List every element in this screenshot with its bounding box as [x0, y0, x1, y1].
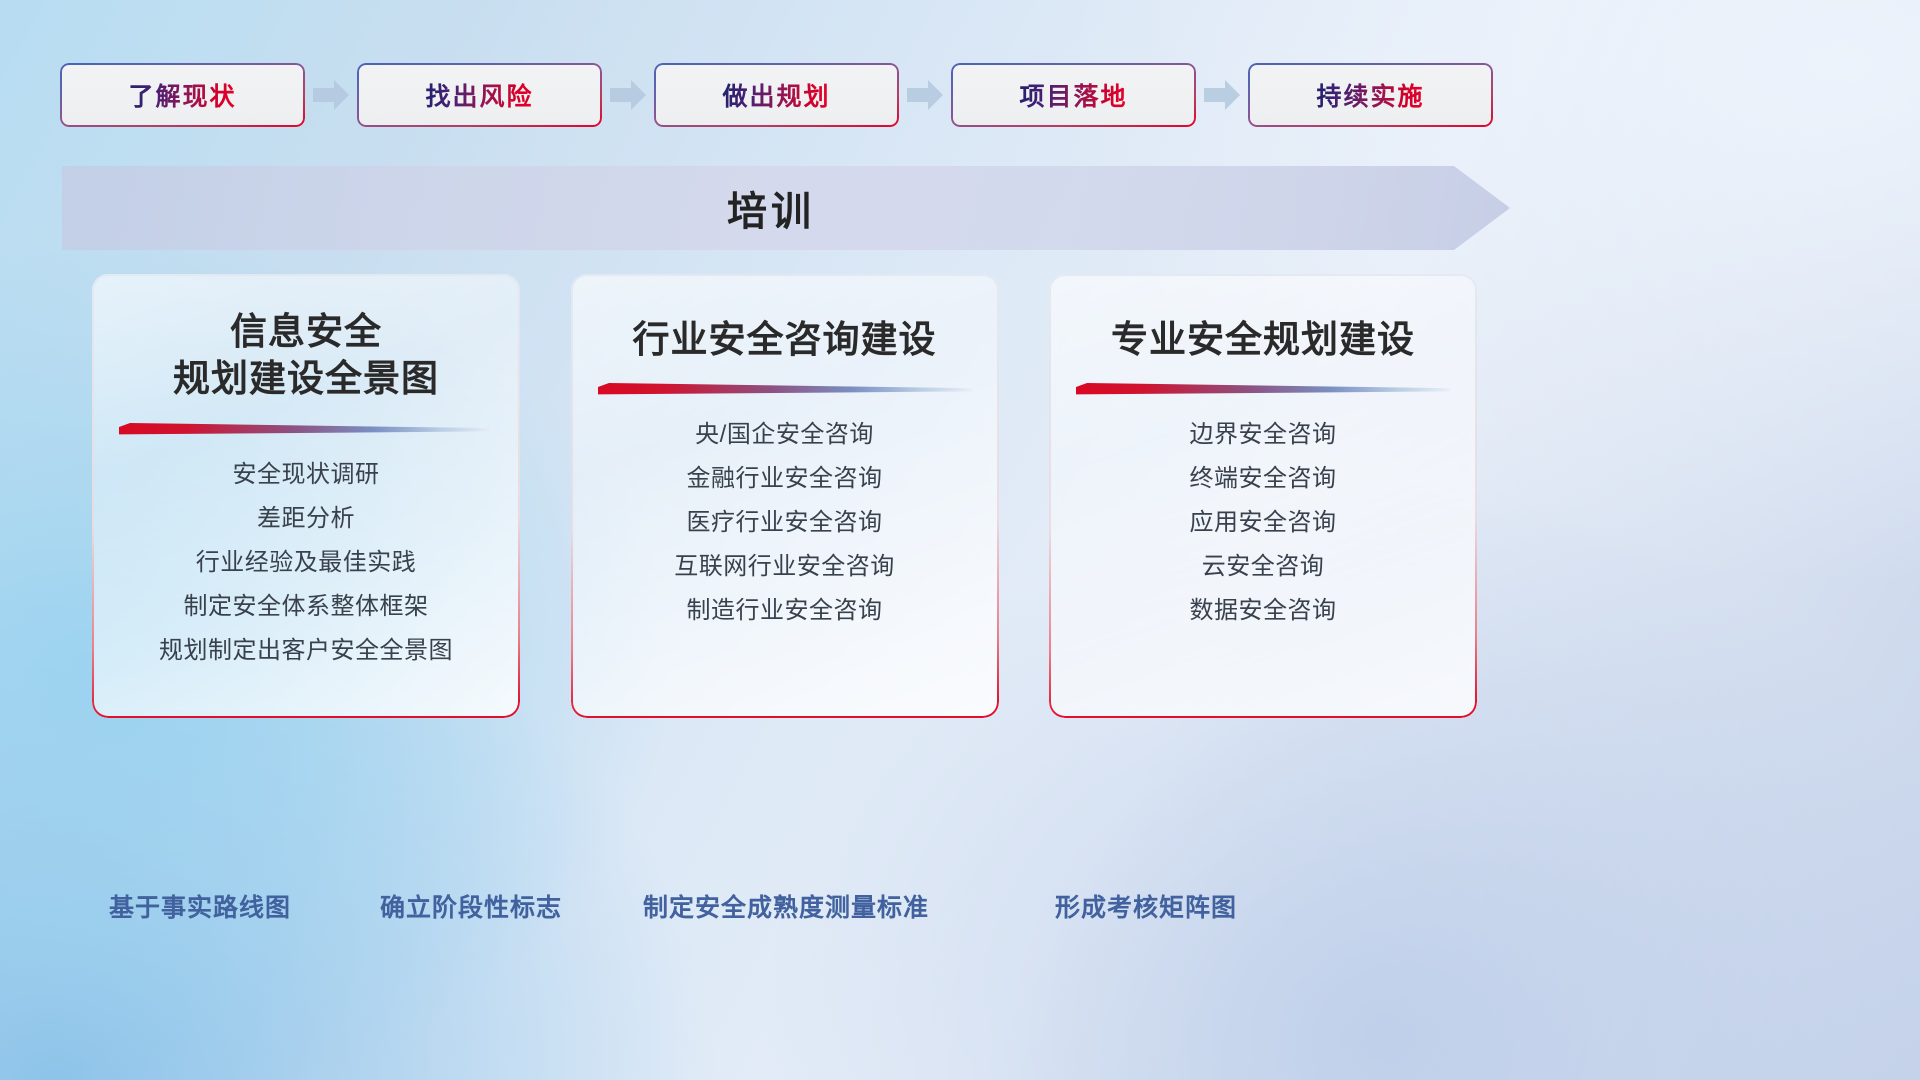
card-list-item[interactable]: 安全现状调研 — [233, 453, 380, 497]
card-item-list: 央/国企安全咨询金融行业安全咨询医疗行业安全咨询互联网行业安全咨询制造行业安全咨… — [571, 413, 999, 633]
slide-stage: 了解现状找出风险做出规划项目落地持续实施 培训 信息安全规划建设全景图安全现状调… — [0, 0, 1920, 1080]
info-card-1[interactable]: 信息安全规划建设全景图安全现状调研差距分析行业经验及最佳实践制定安全体系整体框架… — [92, 274, 520, 718]
chevron-right-icon — [305, 75, 357, 115]
card-list-item[interactable]: 行业经验及最佳实践 — [196, 541, 417, 585]
banner-title: 培训 — [62, 166, 1510, 250]
card-divider — [598, 383, 972, 399]
training-banner: 培训 — [62, 166, 1510, 250]
process-step-5[interactable]: 持续实施 — [1248, 63, 1493, 127]
card-list-item[interactable]: 规划制定出客户安全全景图 — [159, 629, 453, 673]
process-step-label: 持续实施 — [1316, 77, 1424, 113]
card-row: 信息安全规划建设全景图安全现状调研差距分析行业经验及最佳实践制定安全体系整体框架… — [92, 274, 1477, 718]
bottom-label-1: 基于事实路线图 — [109, 888, 291, 924]
card-list-item[interactable]: 央/国企安全咨询 — [695, 413, 874, 457]
chevron-right-icon — [899, 75, 951, 115]
card-title-line: 规划建设全景图 — [173, 355, 439, 402]
chevron-right-icon — [1196, 75, 1248, 115]
card-list-item[interactable]: 医疗行业安全咨询 — [687, 501, 883, 545]
process-step-label: 了解现状 — [128, 77, 236, 113]
process-step-3[interactable]: 做出规划 — [654, 63, 899, 127]
card-divider — [1076, 383, 1450, 399]
card-title-line: 行业安全咨询建设 — [633, 316, 937, 363]
info-card-3[interactable]: 专业安全规划建设边界安全咨询终端安全咨询应用安全咨询云安全咨询数据安全咨询 — [1049, 274, 1477, 718]
card-list-item[interactable]: 边界安全咨询 — [1190, 413, 1337, 457]
card-list-item[interactable]: 数据安全咨询 — [1190, 589, 1337, 633]
bottom-label-3: 制定安全成熟度测量标准 — [643, 888, 929, 924]
bottom-label-4: 形成考核矩阵图 — [1055, 888, 1237, 924]
bottom-label-row: 基于事实路线图确立阶段性标志制定安全成熟度测量标准形成考核矩阵图 — [0, 888, 1570, 948]
card-list-item[interactable]: 制定安全体系整体框架 — [184, 585, 429, 629]
process-step-row: 了解现状找出风险做出规划项目落地持续实施 — [60, 62, 1510, 128]
card-list-item[interactable]: 云安全咨询 — [1202, 545, 1325, 589]
bottom-label-2: 确立阶段性标志 — [380, 888, 562, 924]
process-step-4[interactable]: 项目落地 — [951, 63, 1196, 127]
chevron-right-icon — [602, 75, 654, 115]
card-list-item[interactable]: 制造行业安全咨询 — [687, 589, 883, 633]
card-item-list: 边界安全咨询终端安全咨询应用安全咨询云安全咨询数据安全咨询 — [1049, 413, 1477, 633]
card-item-list: 安全现状调研差距分析行业经验及最佳实践制定安全体系整体框架规划制定出客户安全全景… — [92, 453, 520, 673]
process-step-label: 找出风险 — [425, 77, 533, 113]
card-title: 专业安全规划建设 — [1093, 316, 1433, 363]
card-title-line: 信息安全 — [173, 308, 439, 355]
process-step-2[interactable]: 找出风险 — [357, 63, 602, 127]
card-list-item[interactable]: 终端安全咨询 — [1190, 457, 1337, 501]
card-list-item[interactable]: 互联网行业安全咨询 — [674, 545, 895, 589]
process-step-1[interactable]: 了解现状 — [60, 63, 305, 127]
card-list-item[interactable]: 应用安全咨询 — [1190, 501, 1337, 545]
card-list-item[interactable]: 金融行业安全咨询 — [687, 457, 883, 501]
card-divider — [119, 423, 493, 439]
card-list-item[interactable]: 差距分析 — [257, 497, 355, 541]
card-title-line: 专业安全规划建设 — [1111, 316, 1415, 363]
process-step-label: 做出规划 — [722, 77, 830, 113]
card-title: 行业安全咨询建设 — [615, 316, 955, 363]
process-step-label: 项目落地 — [1019, 77, 1127, 113]
card-title: 信息安全规划建设全景图 — [155, 308, 457, 403]
info-card-2[interactable]: 行业安全咨询建设央/国企安全咨询金融行业安全咨询医疗行业安全咨询互联网行业安全咨… — [571, 274, 999, 718]
